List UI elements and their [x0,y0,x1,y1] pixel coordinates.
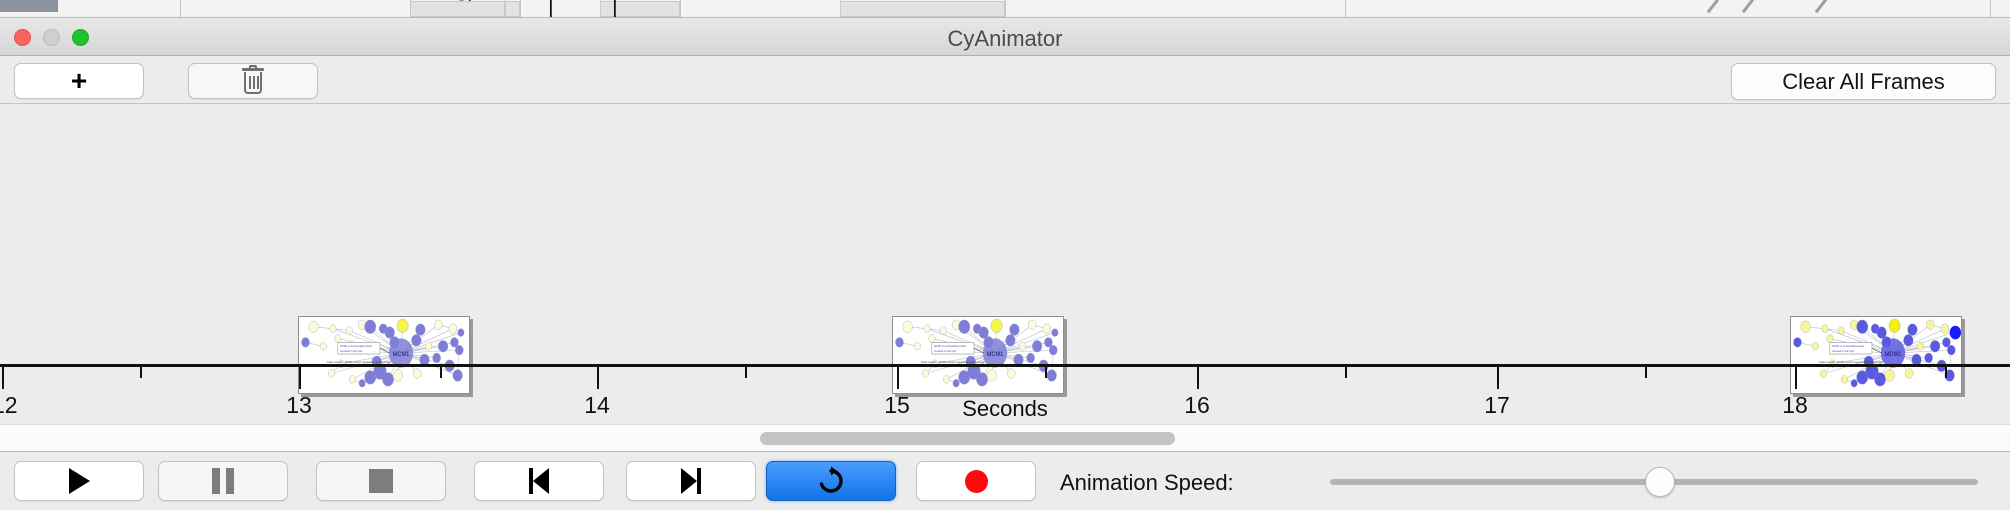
window-title: CyAnimator [0,26,2010,52]
trash-icon [242,68,264,95]
axis-tick-major [897,367,899,389]
skip-back-icon [529,468,549,494]
delete-frame-button[interactable] [188,63,318,99]
axis-tick-minor [1045,367,1047,378]
loop-button[interactable] [766,461,896,501]
background-window-divider [1345,0,1346,18]
skip-to-end-button[interactable] [626,461,756,501]
add-frame-button[interactable]: + [14,63,144,99]
stop-button [316,461,446,501]
plus-icon: + [71,67,87,95]
pause-icon [212,468,234,494]
axis-tick-major [1497,367,1499,389]
axis-tick-major [299,367,301,389]
svg-text:involved in cell cycle: involved in cell cycle [340,349,362,353]
frame-thumbnails-layer: MCM1MCM1 is a transcription factorinvolv… [0,104,2010,394]
clear-all-frames-label: Clear All Frames [1782,69,1945,95]
background-window-glyph: | [548,0,554,18]
axis-tick-minor [745,367,747,378]
background-window-divider [680,0,681,18]
window-titlebar: CyAnimator [0,18,2010,56]
svg-text:MCM1: MCM1 [1885,351,1902,359]
background-window-strip: Shape || [0,0,2010,18]
svg-text:MCM1 is a transcription factor: MCM1 is a transcription factor [1832,344,1864,348]
svg-text:involved in cell cycle: involved in cell cycle [1832,349,1854,353]
playback-controls-bar: Animation Speed: [0,452,2010,509]
axis-baseline [0,364,2010,367]
background-window-glyph: | [612,0,618,18]
svg-text:MCM1 is a transcription factor: MCM1 is a transcription factor [934,344,966,348]
axis-tick-minor [1645,367,1647,378]
loop-icon [816,466,846,496]
timeline-horizontal-scrollbar[interactable] [0,424,2010,452]
background-window-diagonal-line [1742,0,1764,18]
timeline-axis: 12131415161718 [0,364,2010,394]
animation-speed-label: Animation Speed: [1060,470,1234,496]
cyanimator-window: CyAnimator + Clear All Frames MCM1MCM1 i… [0,18,2010,510]
scrollbar-thumb[interactable] [760,432,1175,445]
background-window-toolbar-box [505,1,520,17]
background-window-titlebar-fragment [0,0,58,12]
skip-forward-icon [681,468,701,494]
axis-tick-minor [1345,367,1347,378]
svg-text:MCM1: MCM1 [393,351,410,359]
pause-button [158,461,288,501]
axis-tick-major [597,367,599,389]
play-icon [69,468,90,494]
play-button[interactable] [14,461,144,501]
axis-tick-major [1795,367,1797,389]
record-button[interactable] [916,461,1036,501]
frame-toolbar: + Clear All Frames [0,56,2010,104]
axis-tick-major [1197,367,1199,389]
animation-speed-slider-thumb[interactable] [1645,467,1675,497]
timeline-panel[interactable]: MCM1MCM1 is a transcription factorinvolv… [0,104,2010,424]
background-window-toolbar-box [410,1,505,17]
svg-text:MCM1 is a transcription factor: MCM1 is a transcription factor [340,344,372,348]
record-icon [965,470,988,493]
clear-all-frames-button[interactable]: Clear All Frames [1731,63,1996,100]
background-window-diagonal-line [1707,0,1729,18]
background-window-toolbar-box [840,1,1005,17]
background-window-divider [1990,0,1991,18]
background-window-divider [520,0,521,18]
skip-to-start-button[interactable] [474,461,604,501]
svg-text:involved in cell cycle: involved in cell cycle [934,349,956,353]
background-window-divider [180,0,181,18]
axis-tick-minor [1945,367,1947,378]
stop-icon [369,469,393,493]
axis-tick-minor [440,367,442,378]
axis-title-seconds: Seconds [0,396,2010,422]
background-window-diagonal-line [1815,0,1837,18]
background-window-divider [1005,0,1006,18]
axis-tick-minor [140,367,142,378]
svg-text:MCM1: MCM1 [987,351,1004,359]
axis-tick-major [2,367,4,389]
